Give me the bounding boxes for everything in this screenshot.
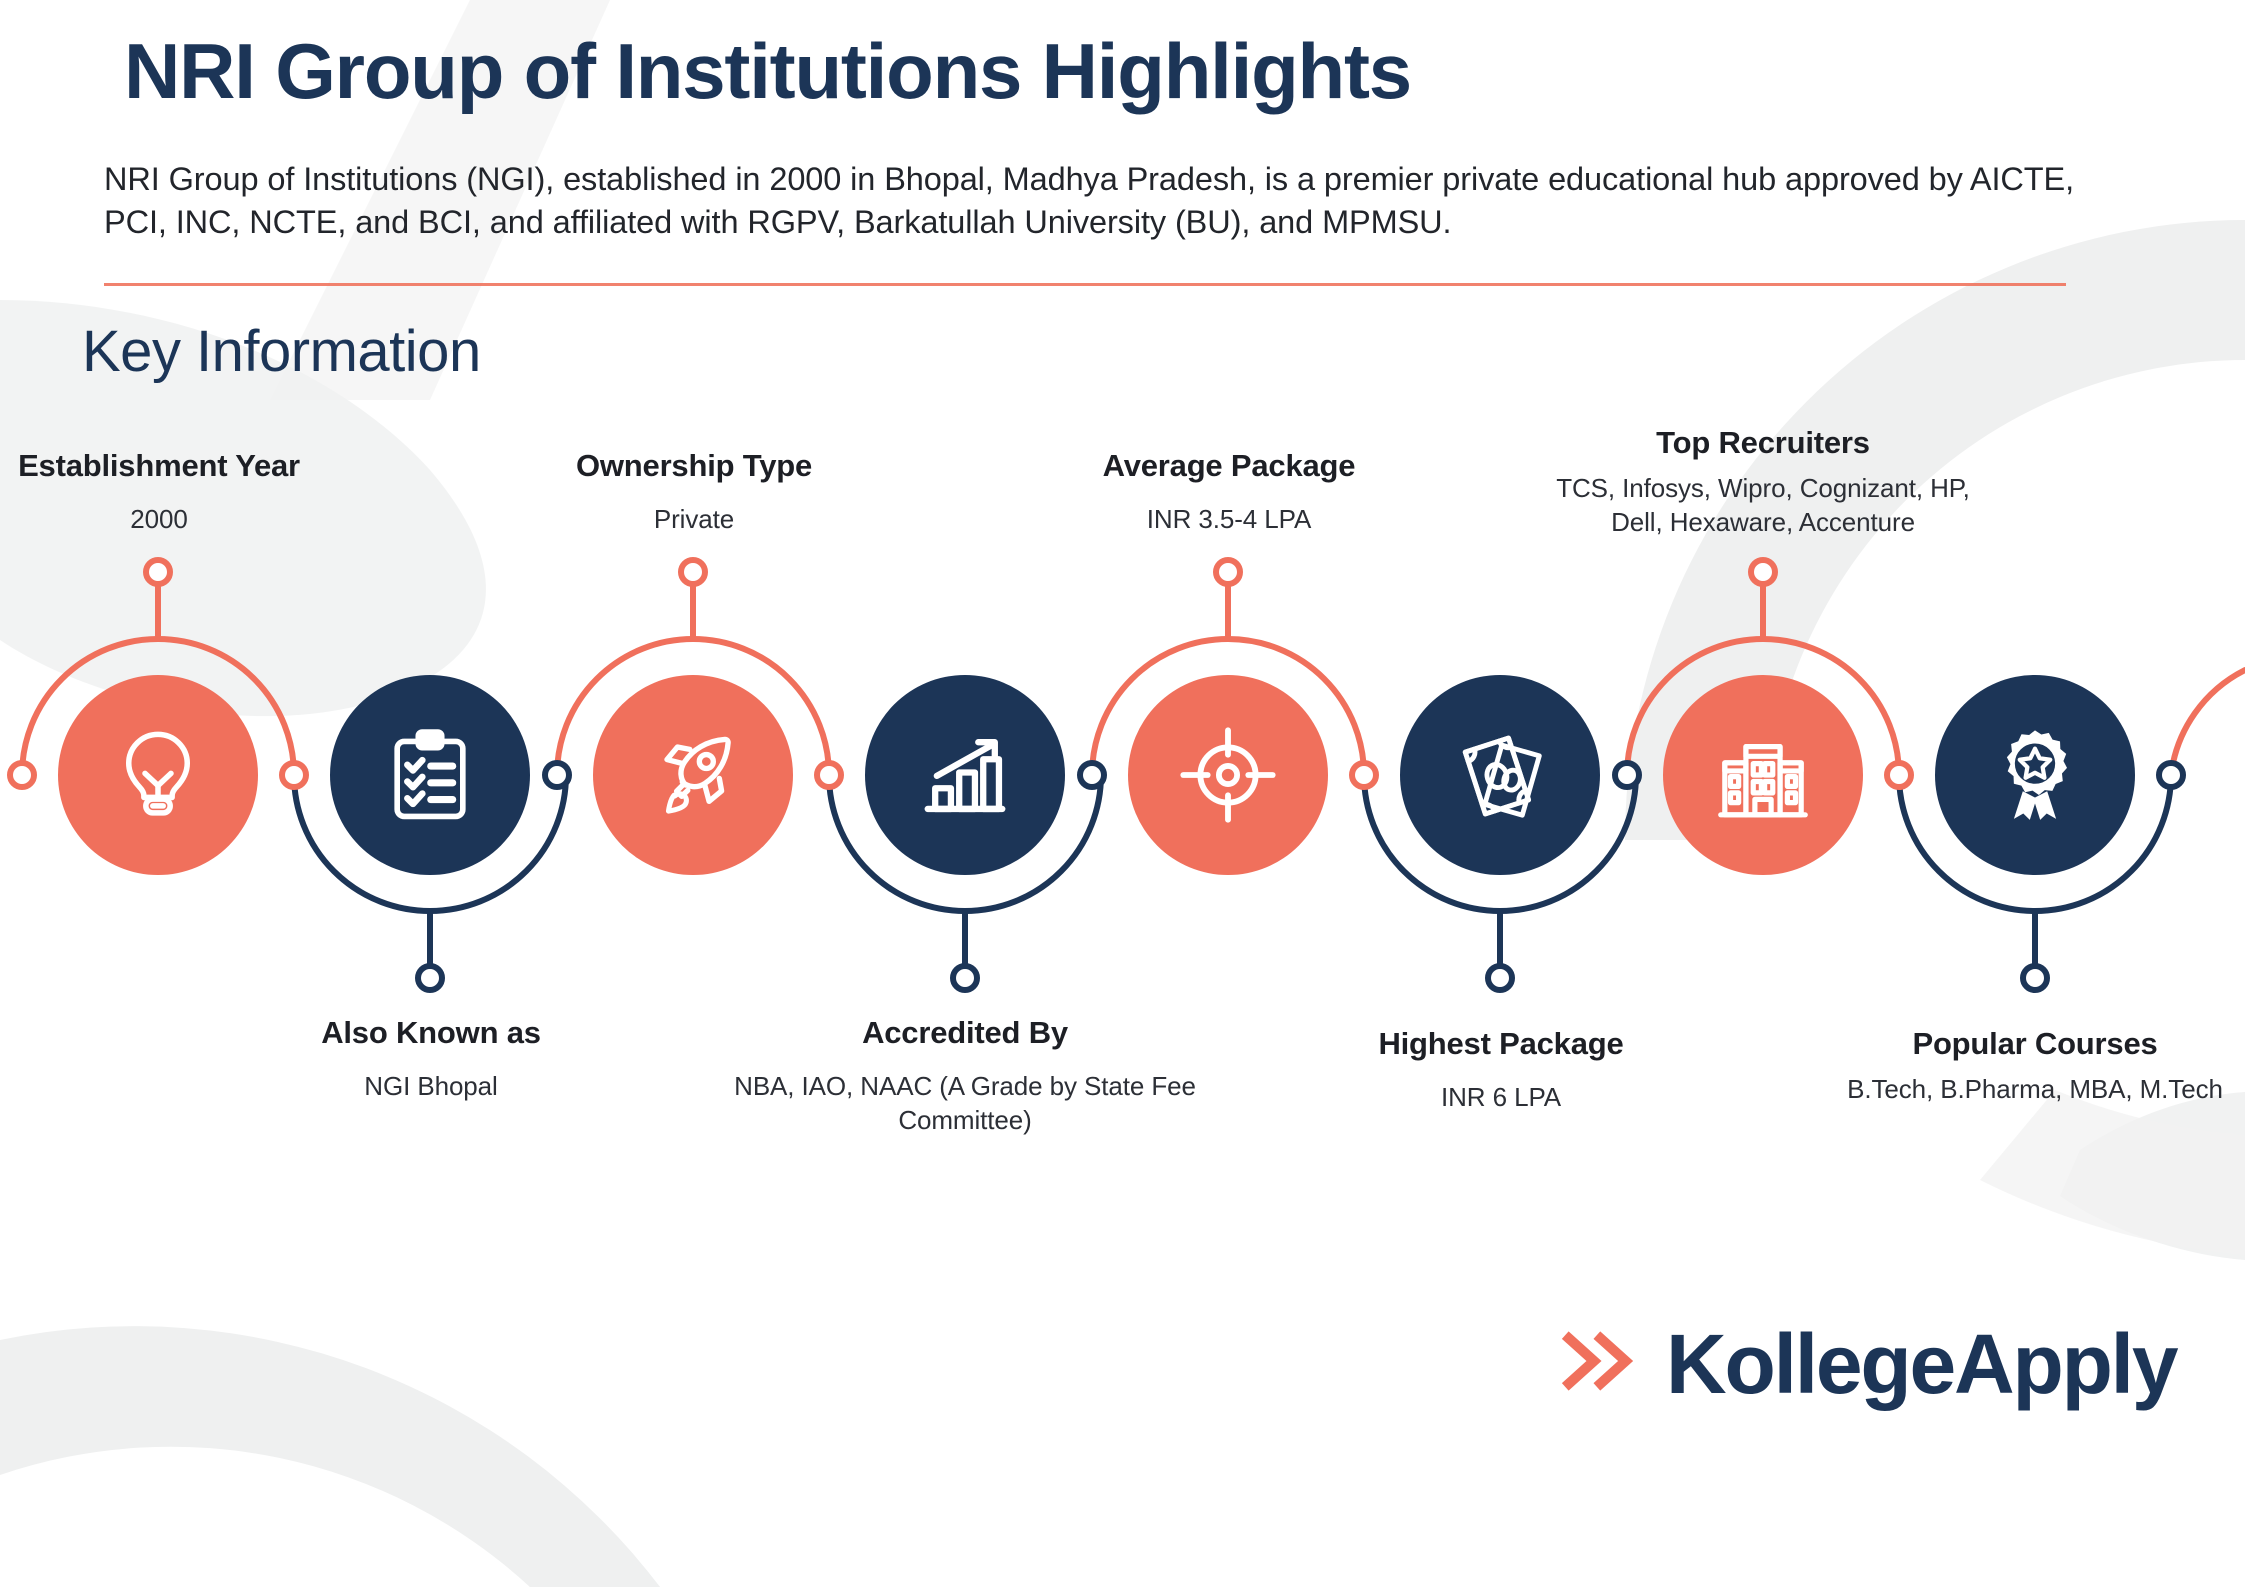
timeline-dot: [817, 763, 841, 787]
timeline-dot: [1352, 763, 1376, 787]
timeline-dot: [2159, 763, 2183, 787]
growth-chart-icon: [912, 722, 1018, 828]
timeline-stem-dot: [2023, 966, 2047, 990]
timeline-node-average-package[interactable]: [1128, 675, 1328, 875]
timeline: [0, 400, 2245, 1200]
timeline-stem-dot: [681, 560, 705, 584]
timeline-dot: [1080, 763, 1104, 787]
double-chevron-icon: [1548, 1315, 1640, 1412]
section-heading: Key Information: [82, 318, 481, 385]
timeline-node-top-recruiters[interactable]: [1663, 675, 1863, 875]
brand-name: KollegeApply: [1666, 1322, 2176, 1406]
timeline-stem-dot: [1216, 560, 1240, 584]
timeline-stem-dot: [146, 560, 170, 584]
award-badge-icon: [1983, 723, 2087, 827]
banknotes-icon: [1448, 723, 1552, 827]
timeline-node-also-known-as[interactable]: [330, 675, 530, 875]
timeline-dot: [10, 763, 34, 787]
page-subtitle: NRI Group of Institutions (NGI), establi…: [104, 158, 2144, 244]
timeline-node-popular-courses[interactable]: [1935, 675, 2135, 875]
clipboard-checklist-icon: [380, 725, 480, 825]
rocket-icon: [641, 723, 745, 827]
lightbulb-icon: [106, 723, 210, 827]
timeline-stem-dot: [1751, 560, 1775, 584]
timeline-stem-dot: [953, 966, 977, 990]
timeline-node-ownership-type[interactable]: [593, 675, 793, 875]
building-icon: [1711, 723, 1815, 827]
timeline-stem-dot: [1488, 966, 1512, 990]
timeline-dot: [282, 763, 306, 787]
timeline-node-establishment-year[interactable]: [58, 675, 258, 875]
target-icon: [1176, 723, 1280, 827]
timeline-dot: [1615, 763, 1639, 787]
timeline-dot: [1887, 763, 1911, 787]
page-title: NRI Group of Institutions Highlights: [124, 26, 1411, 117]
brand-logo[interactable]: KollegeApply: [1548, 1315, 2176, 1412]
header-divider: [104, 283, 2066, 286]
timeline-node-accredited-by[interactable]: [865, 675, 1065, 875]
timeline-stem-dot: [418, 966, 442, 990]
timeline-node-highest-package[interactable]: [1400, 675, 1600, 875]
timeline-dot: [545, 763, 569, 787]
infographic-page: NRI Group of Institutions Highlights NRI…: [0, 0, 2245, 1587]
